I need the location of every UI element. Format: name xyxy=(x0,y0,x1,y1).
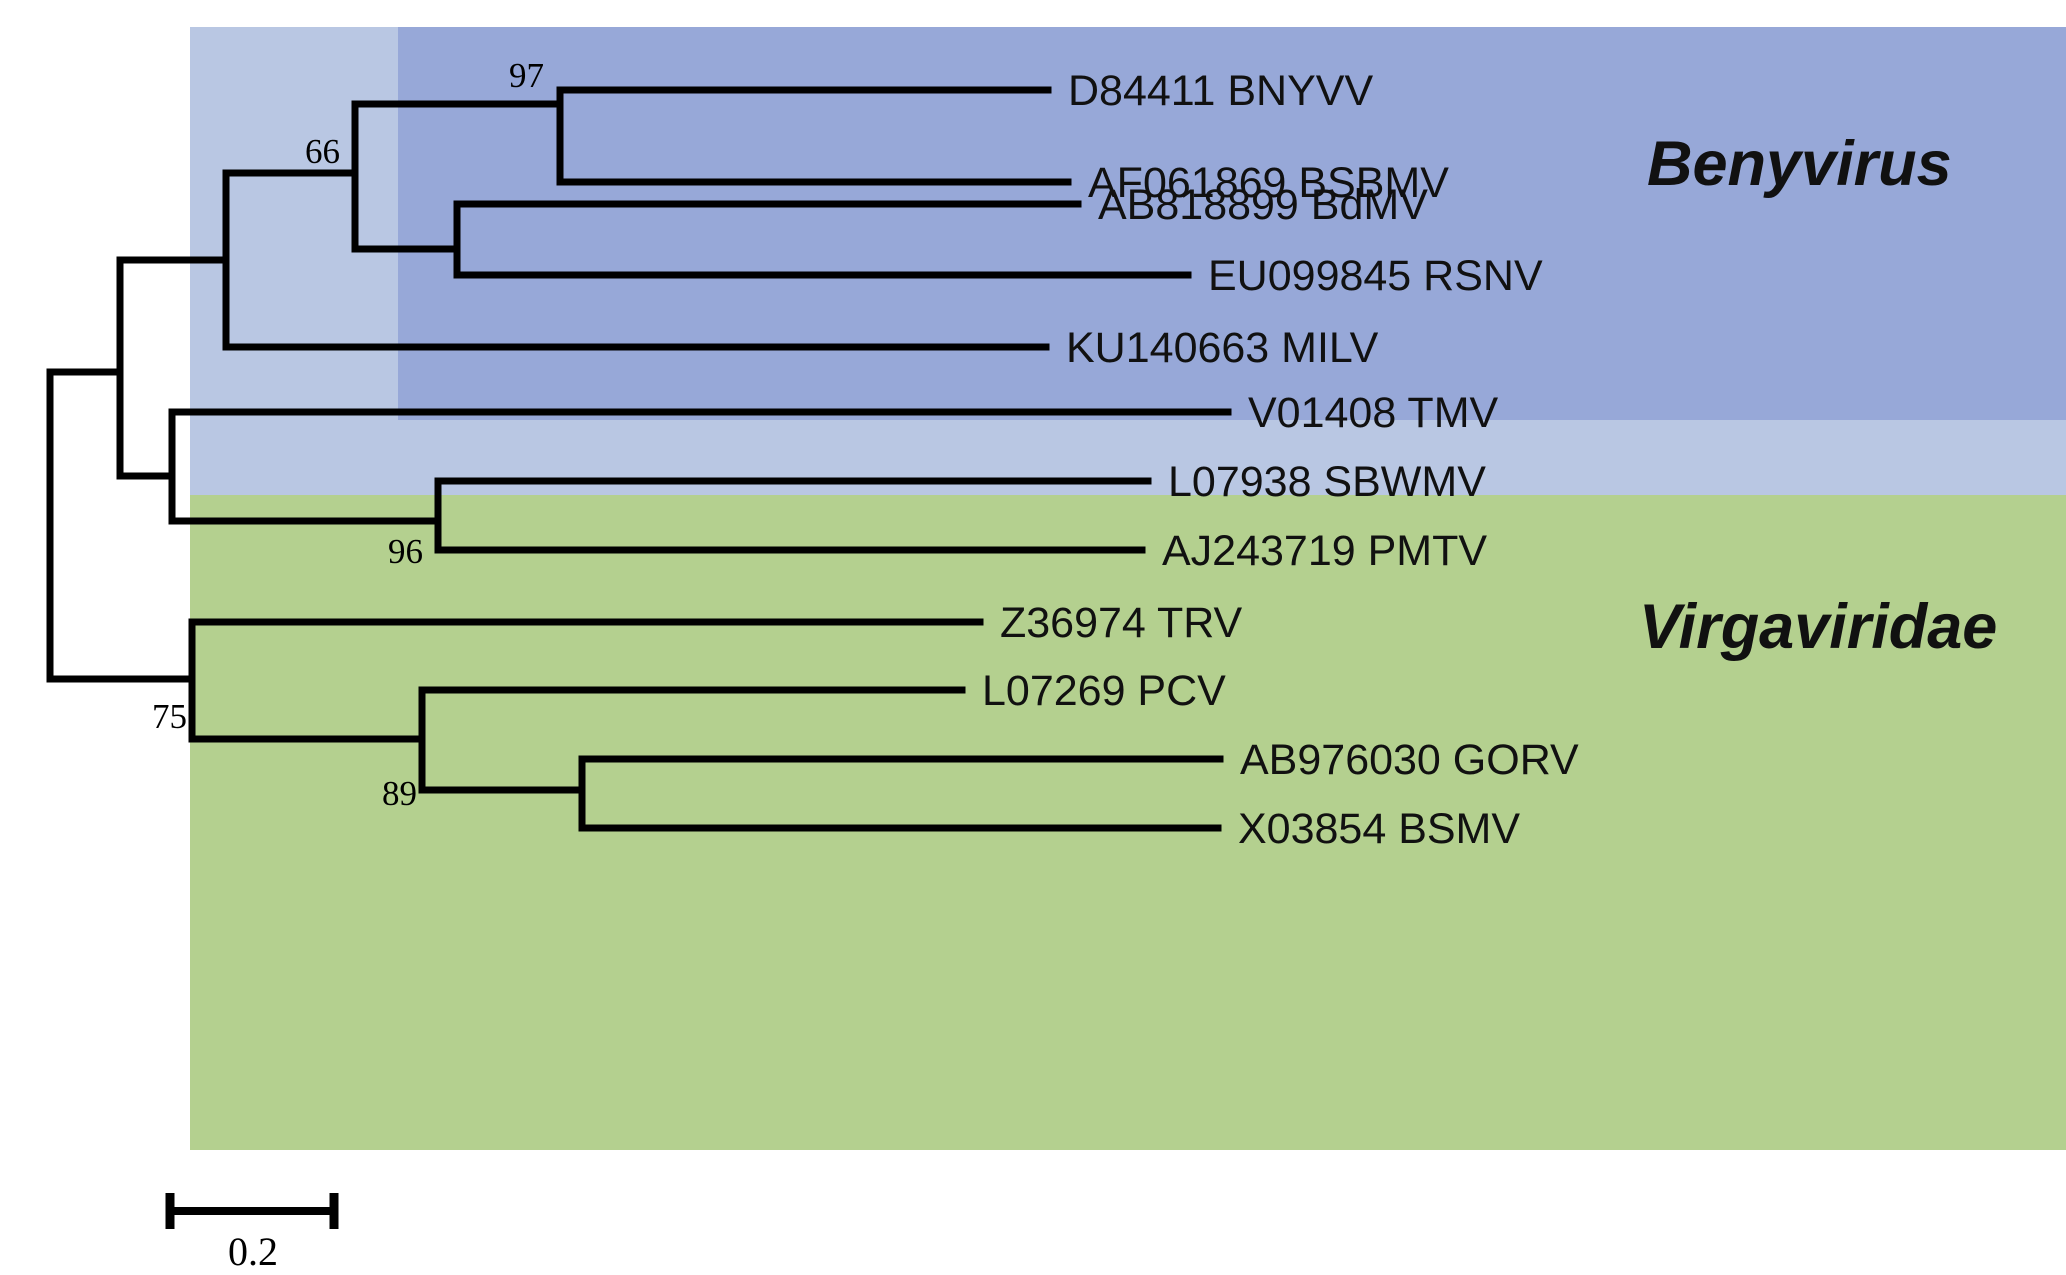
taxon-label-gorv: AB976030 GORV xyxy=(1240,736,1579,784)
taxon-label-bdmv: AB818899 BdMV xyxy=(1098,181,1428,229)
support-value-97: 97 xyxy=(509,56,544,95)
taxon-label-trv: Z36974 TRV xyxy=(1000,599,1243,647)
taxon-label-milv: KU140663 MILV xyxy=(1066,324,1379,372)
taxon-label-tmv: V01408 TMV xyxy=(1248,389,1499,437)
support-value-89: 89 xyxy=(382,774,417,813)
taxon-label-sbwmv: L07938 SBWMV xyxy=(1168,458,1486,506)
support-value-75: 75 xyxy=(152,697,187,736)
taxon-label-pcv: L07269 PCV xyxy=(982,667,1226,715)
group-label-benyvirus: Benyvirus xyxy=(1647,129,1952,199)
support-value-66: 66 xyxy=(305,132,340,171)
support-value-96: 96 xyxy=(388,532,423,571)
taxon-label-bsmv: X03854 BSMV xyxy=(1238,805,1520,853)
scale-bar: 0.2 xyxy=(166,1193,338,1274)
group-label-virgaviridae: Virgaviridae xyxy=(1639,592,1997,662)
figure-canvas: D84411 BNYVV AF061869 BSBMV AB818899 BdM… xyxy=(0,0,2066,1275)
taxon-label-rsnv: EU099845 RSNV xyxy=(1208,252,1543,300)
taxon-label-pmtv: AJ243719 PMTV xyxy=(1162,527,1487,575)
phylogenetic-tree: D84411 BNYVV AF061869 BSBMV AB818899 BdM… xyxy=(0,0,2066,1275)
taxon-label-bnyvv: D84411 BNYVV xyxy=(1068,67,1373,115)
scale-bar-label: 0.2 xyxy=(228,1229,278,1274)
